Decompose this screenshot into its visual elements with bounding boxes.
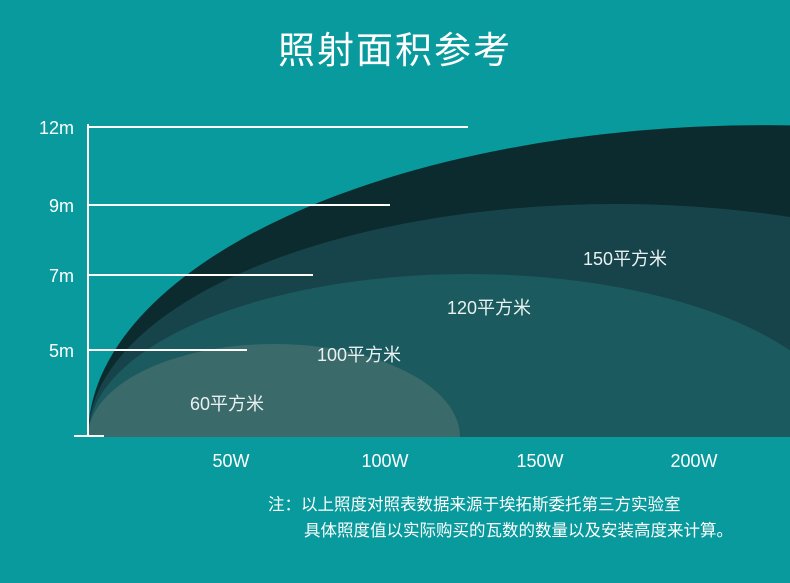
y-tick-label-7m: 7m xyxy=(49,266,74,286)
x-tick-label-100w: 100W xyxy=(361,451,408,471)
x-tick-label-200w: 200W xyxy=(670,451,717,471)
footnote-line-2: 具体照度值以实际购买的瓦数的数量以及安装高度来计算。 xyxy=(268,518,778,544)
x-tick-label-150w: 150W xyxy=(516,451,563,471)
arc-label-120-sqm: 120平方米 xyxy=(447,298,531,318)
y-tick-label-12m: 12m xyxy=(39,118,74,138)
chart-canvas: 照射面积参考 12m 9m 7m 5m 50W 100W 150W 200W 6… xyxy=(0,0,790,583)
x-tick-label-50w: 50W xyxy=(212,451,249,471)
y-tick-label-5m: 5m xyxy=(49,341,74,361)
footnote-line-1: 注：以上照度对照表数据来源于埃拓斯委托第三方实验室 xyxy=(268,492,778,518)
arc-label-60-sqm: 60平方米 xyxy=(190,394,264,414)
footnote: 注：以上照度对照表数据来源于埃拓斯委托第三方实验室 具体照度值以实际购买的瓦数的… xyxy=(268,492,778,544)
arc-label-100-sqm: 100平方米 xyxy=(317,345,401,365)
arc-label-150-sqm: 150平方米 xyxy=(583,249,667,269)
y-tick-label-9m: 9m xyxy=(49,196,74,216)
